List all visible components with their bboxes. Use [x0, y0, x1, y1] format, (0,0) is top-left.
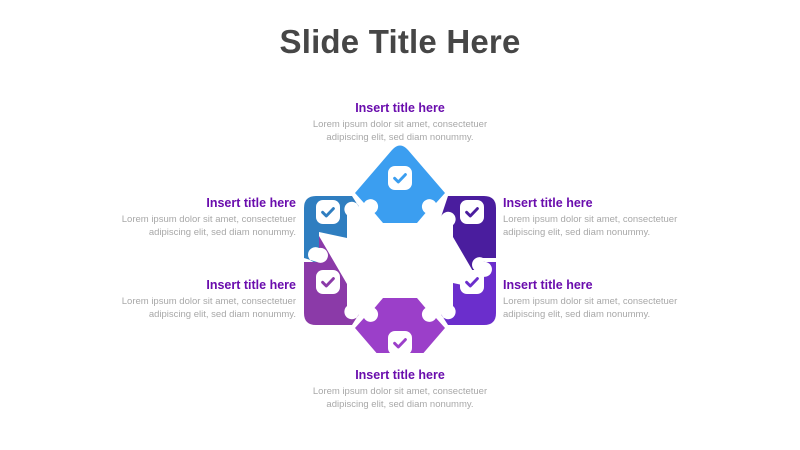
puzzle-piece-bottom-left[interactable] [304, 236, 359, 325]
slide-canvas: Slide Title Here Insert title here Lorem… [0, 0, 800, 450]
callout-bottom-right-body: Lorem ipsum dolor sit amet, consectetuer… [503, 296, 699, 321]
puzzle-piece-bottom-right[interactable] [441, 262, 496, 325]
check-icon [460, 200, 484, 224]
check-icon [316, 200, 340, 224]
callout-top-left-title: Insert title here [100, 195, 296, 211]
check-icon [316, 270, 340, 294]
callout-bottom-title: Insert title here [300, 367, 500, 383]
callout-top-right-body: Lorem ipsum dolor sit amet, consectetuer… [503, 214, 699, 239]
callout-top-left: Insert title here Lorem ipsum dolor sit … [100, 195, 296, 239]
page-title: Slide Title Here [0, 22, 800, 62]
callout-top-left-body: Lorem ipsum dolor sit amet, consectetuer… [100, 214, 296, 239]
callout-bottom-body: Lorem ipsum dolor sit amet, consectetuer… [300, 386, 500, 411]
puzzle-piece-bottom[interactable] [355, 298, 445, 353]
puzzle-piece-top-left[interactable] [304, 196, 359, 262]
callout-bottom-left-title: Insert title here [100, 277, 296, 293]
check-icon [388, 331, 412, 353]
callout-bottom-left-body: Lorem ipsum dolor sit amet, consectetuer… [100, 296, 296, 321]
check-icon [388, 166, 412, 190]
callout-top-title: Insert title here [300, 100, 500, 116]
puzzle-piece-top[interactable] [355, 146, 445, 224]
callout-bottom-right-title: Insert title here [503, 277, 699, 293]
hexagon-puzzle-diagram [296, 138, 504, 353]
callout-bottom-left: Insert title here Lorem ipsum dolor sit … [100, 277, 296, 321]
callout-top-right-title: Insert title here [503, 195, 699, 211]
callout-bottom-right: Insert title here Lorem ipsum dolor sit … [503, 277, 699, 321]
callout-bottom: Insert title here Lorem ipsum dolor sit … [300, 367, 500, 411]
callout-top-right: Insert title here Lorem ipsum dolor sit … [503, 195, 699, 239]
check-icon [460, 270, 484, 294]
